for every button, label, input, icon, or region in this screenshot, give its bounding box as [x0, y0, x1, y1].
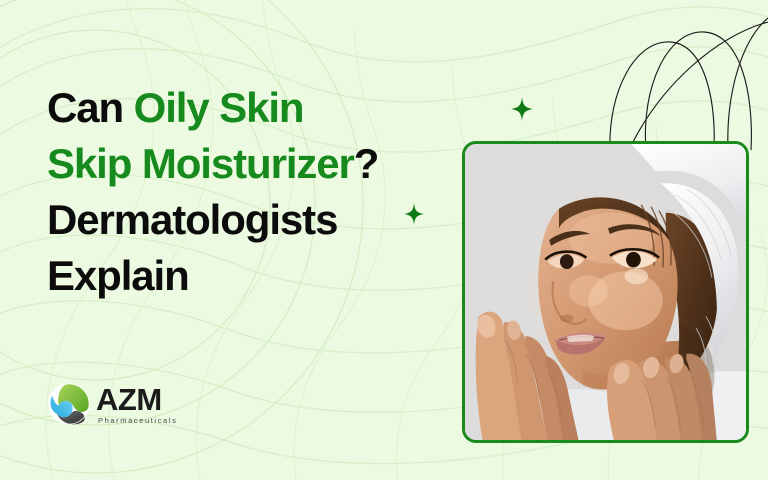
sparkle-icon [511, 97, 533, 121]
azm-swirl-icon [48, 383, 90, 425]
skincare-article-banner: Can Oily Skin Skip Moisturizer? Dermatol… [0, 0, 768, 480]
logo-tagline: Pharmaceuticals [98, 417, 177, 425]
headline-line-2-green: Skip Moisturizer [47, 140, 354, 187]
headline-line-2-black: ? [354, 140, 379, 187]
headline-line-1-black: Can [47, 84, 134, 131]
model-portrait-image [465, 144, 746, 440]
headline-line-3: Dermatologists [47, 192, 477, 248]
photo-frame [462, 141, 749, 443]
headline-line-1: Can Oily Skin [47, 80, 477, 136]
headline-line-4: Explain [47, 248, 477, 304]
logo-wordmark: AZM [96, 384, 177, 415]
azm-logo[interactable]: AZM Pharmaceuticals [48, 383, 177, 425]
headline-line-1-green: Oily Skin [134, 84, 304, 131]
looping-arcs-decoration [608, 0, 768, 150]
headline-line-2: Skip Moisturizer? [47, 136, 477, 192]
page-title: Can Oily Skin Skip Moisturizer? Dermatol… [47, 80, 477, 304]
